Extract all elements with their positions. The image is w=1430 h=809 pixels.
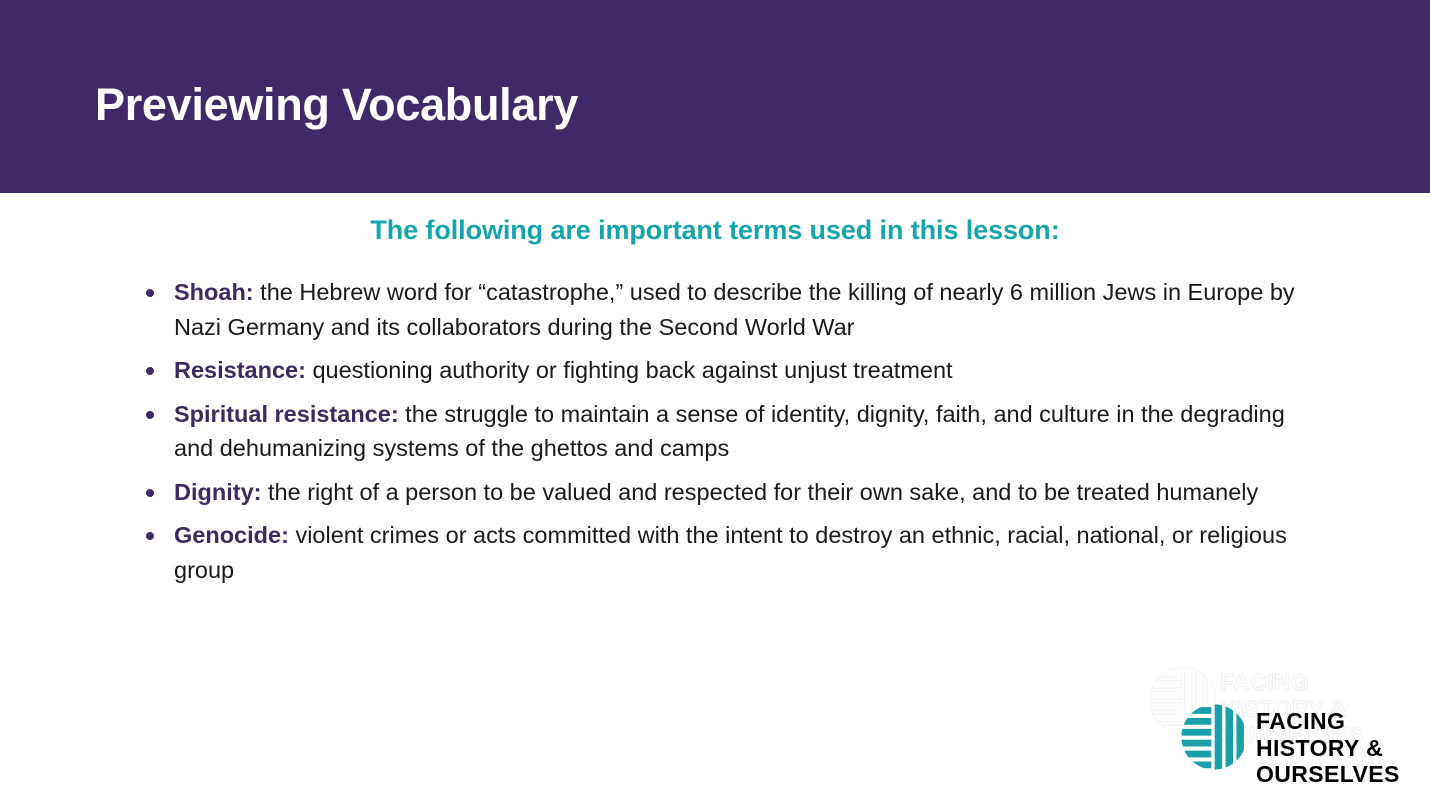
logo-line-3: OURSELVES <box>1256 761 1400 788</box>
list-item: Dignity: the right of a person to be val… <box>140 475 1305 510</box>
term-word: Dignity: <box>174 479 261 505</box>
vocabulary-terms-list: Shoah: the Hebrew word for “catastrophe,… <box>140 275 1305 596</box>
term-definition: the right of a person to be valued and r… <box>261 479 1258 505</box>
term-word: Shoah: <box>174 279 254 305</box>
logo-wordmark: FACING HISTORY & OURSELVES <box>1256 708 1400 788</box>
list-item: Spiritual resistance: the struggle to ma… <box>140 397 1305 466</box>
term-definition: questioning authority or fighting back a… <box>306 357 953 383</box>
subtitle: The following are important terms used i… <box>0 214 1430 248</box>
logo-line-2: HISTORY & <box>1256 735 1400 762</box>
list-item: Shoah: the Hebrew word for “catastrophe,… <box>140 275 1305 344</box>
slide: Previewing Vocabulary The following are … <box>0 0 1430 809</box>
list-item: Resistance: questioning authority or fig… <box>140 353 1305 388</box>
organization-logo: FACING HISTORY & OURSELVES <box>1148 665 1420 800</box>
list-item: Genocide: violent crimes or acts committ… <box>140 518 1305 587</box>
page-title: Previewing Vocabulary <box>95 82 578 127</box>
term-word: Genocide: <box>174 522 289 548</box>
title-banner: Previewing Vocabulary <box>0 0 1430 193</box>
facing-history-circle-mark <box>1180 703 1248 771</box>
logo-line-1: FACING <box>1256 708 1400 735</box>
logo-main: FACING HISTORY & OURSELVES <box>1180 703 1420 800</box>
logo-line-1: FACING <box>1220 669 1364 696</box>
term-definition: violent crimes or acts committed with th… <box>174 522 1287 583</box>
term-definition: the Hebrew word for “catastrophe,” used … <box>174 279 1295 340</box>
term-word: Resistance: <box>174 357 306 383</box>
term-word: Spiritual resistance: <box>174 401 399 427</box>
